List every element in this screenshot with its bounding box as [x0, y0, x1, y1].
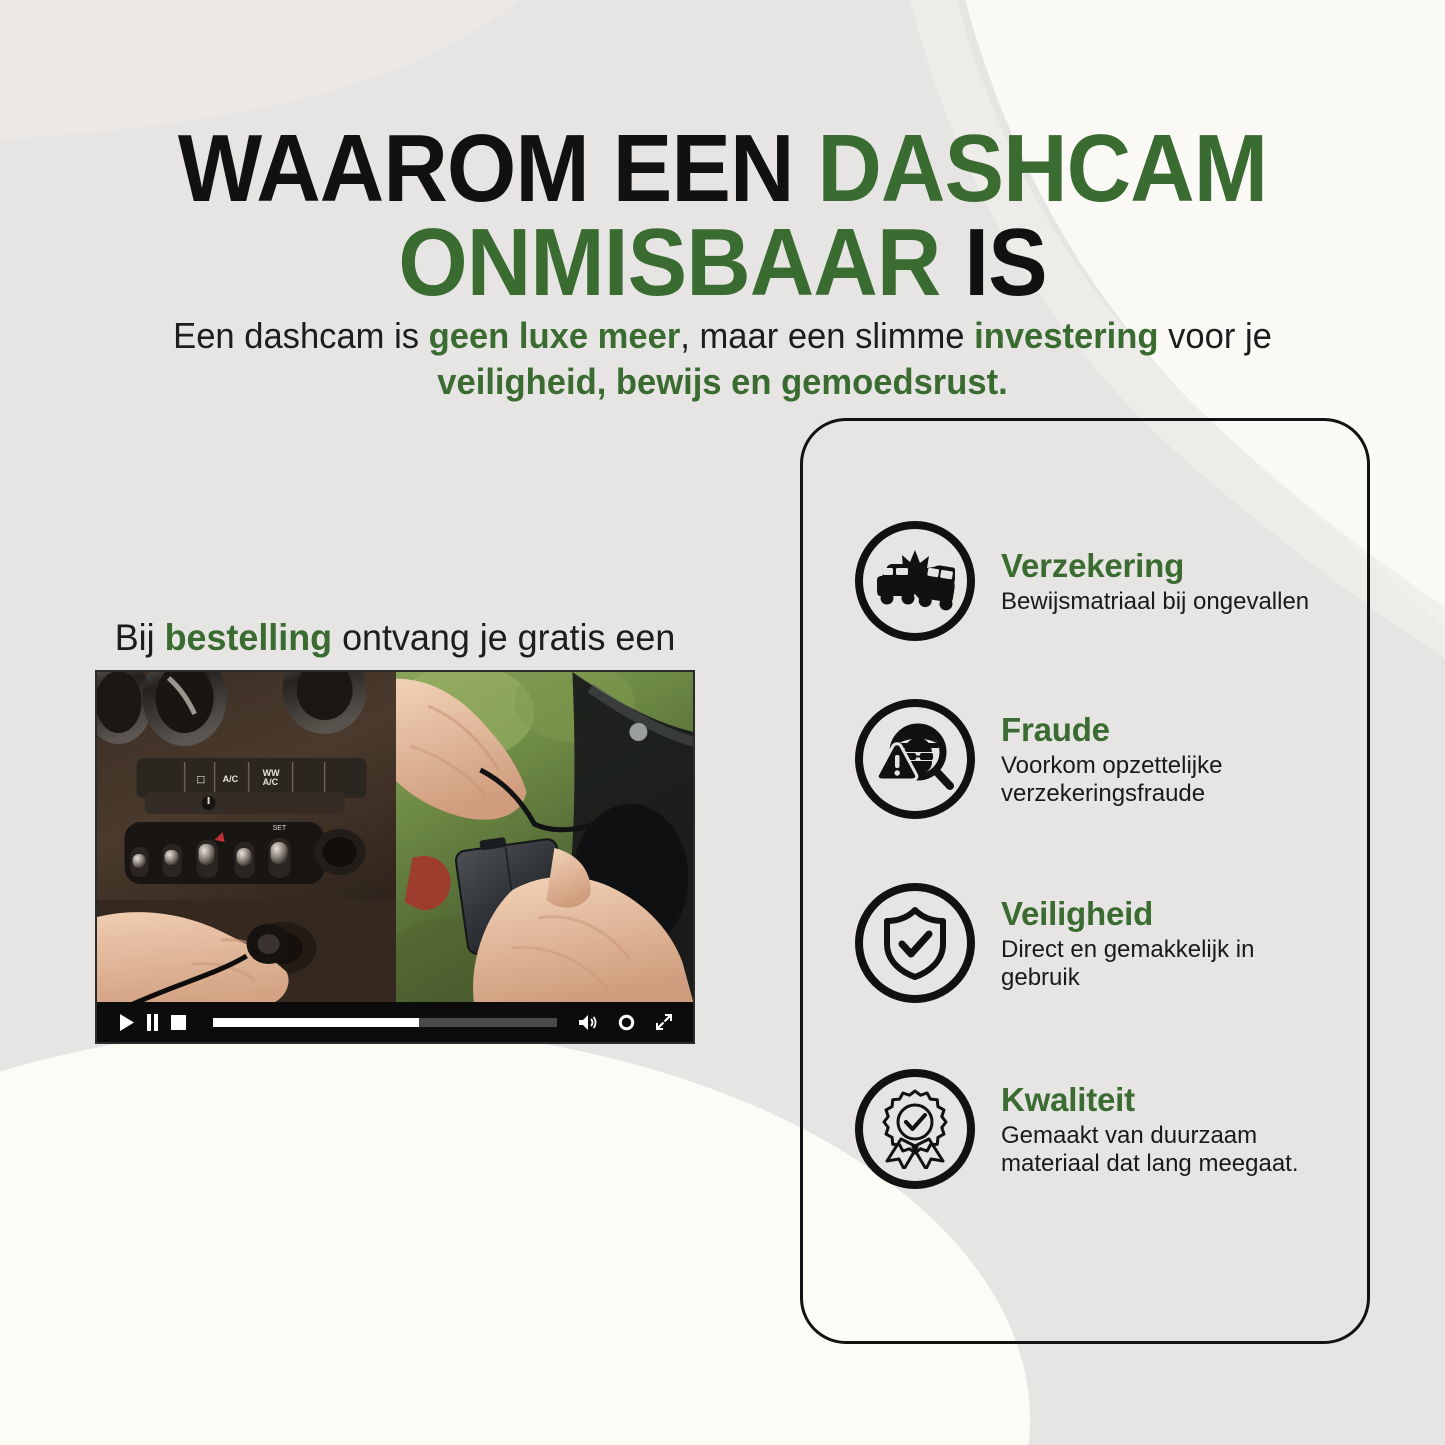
quality-badge-icon	[855, 1069, 975, 1189]
video-frame-device	[396, 672, 693, 1006]
feature-text: Kwaliteit Gemaakt van duurzaam materiaal…	[1001, 1080, 1331, 1177]
video-controls	[97, 1002, 693, 1042]
promo-part-1: Bij	[115, 617, 165, 658]
svg-text:SET: SET	[273, 825, 287, 832]
shield-check-icon	[855, 883, 975, 1003]
feature-item-verzekering[interactable]: Verzekering Bewijsmatriaal bij ongevalle…	[855, 521, 1309, 641]
feature-description: Bewijsmatriaal bij ongevallen	[1001, 588, 1309, 616]
svg-text:A/C: A/C	[263, 777, 279, 787]
feature-title: Fraude	[1001, 712, 1331, 748]
volume-icon[interactable]	[575, 1011, 601, 1033]
svg-text:A/C: A/C	[223, 774, 239, 784]
headline-line1-green: DASHCAM	[817, 115, 1267, 222]
feature-item-fraude[interactable]: Fraude Voorkom opzettelijke verzekerings…	[855, 699, 1331, 819]
page-subtitle: Een dashcam is geen luxe meer, maar een …	[163, 313, 1281, 404]
feature-description: Gemaakt van duurzaam materiaal dat lang …	[1001, 1122, 1331, 1178]
fullscreen-icon[interactable]	[651, 1011, 677, 1033]
feature-description: Direct en gemakkelijk in gebruik	[1001, 936, 1331, 992]
subtitle-bold-2: investering	[974, 315, 1158, 356]
play-icon[interactable]	[113, 1011, 139, 1033]
feature-title: Kwaliteit	[1001, 1082, 1331, 1118]
subtitle-bold-1: geen luxe meer	[429, 315, 681, 356]
subtitle-bold-3: veiligheid, bewijs en gemoedsrust.	[437, 361, 1007, 402]
headline-line2-green: ONMISBAAR	[398, 209, 964, 316]
subtitle-part-2: , maar een slimme	[680, 315, 974, 356]
feature-item-veiligheid[interactable]: Veiligheid Direct en gemakkelijk in gebr…	[855, 883, 1331, 1003]
features-card: Verzekering Bewijsmatriaal bij ongevalle…	[800, 418, 1370, 1344]
feature-text: Fraude Voorkom opzettelijke verzekerings…	[1001, 710, 1331, 807]
promo-part-2: ontvang je gratis een	[332, 617, 675, 658]
feature-title: Verzekering	[1001, 548, 1309, 584]
headline-line2-black: IS	[964, 209, 1046, 316]
subtitle-part-3: voor je	[1159, 315, 1272, 356]
stop-icon[interactable]	[165, 1011, 191, 1033]
video-progress-fill	[213, 1018, 419, 1027]
video-frames: ⬚ A/C WW A/C	[97, 672, 693, 1006]
page-title: WAAROM EEN DASHCAM ONMISBAAR IS	[51, 122, 1395, 310]
video-progress-bar[interactable]	[213, 1018, 557, 1027]
promo-bold-1: bestelling	[165, 617, 333, 658]
feature-description: Voorkom opzettelijke verzekeringsfraude	[1001, 752, 1331, 808]
headline-line1-black: WAAROM EEN	[178, 115, 818, 222]
feature-title: Veiligheid	[1001, 896, 1331, 932]
installation-video-player[interactable]: ⬚ A/C WW A/C	[95, 670, 695, 1044]
pause-icon[interactable]	[139, 1011, 165, 1033]
video-right-controls	[575, 1011, 677, 1033]
settings-icon[interactable]	[613, 1011, 639, 1033]
video-frame-dashboard: ⬚ A/C WW A/C	[97, 672, 396, 1006]
car-crash-icon	[855, 521, 975, 641]
svg-text:⬚: ⬚	[197, 774, 206, 784]
feature-text: Veiligheid Direct en gemakkelijk in gebr…	[1001, 894, 1331, 991]
feature-text: Verzekering Bewijsmatriaal bij ongevalle…	[1001, 546, 1309, 615]
feature-item-kwaliteit[interactable]: Kwaliteit Gemaakt van duurzaam materiaal…	[855, 1069, 1331, 1189]
fraud-magnifier-icon	[855, 699, 975, 819]
subtitle-part-1: Een dashcam is	[173, 315, 428, 356]
